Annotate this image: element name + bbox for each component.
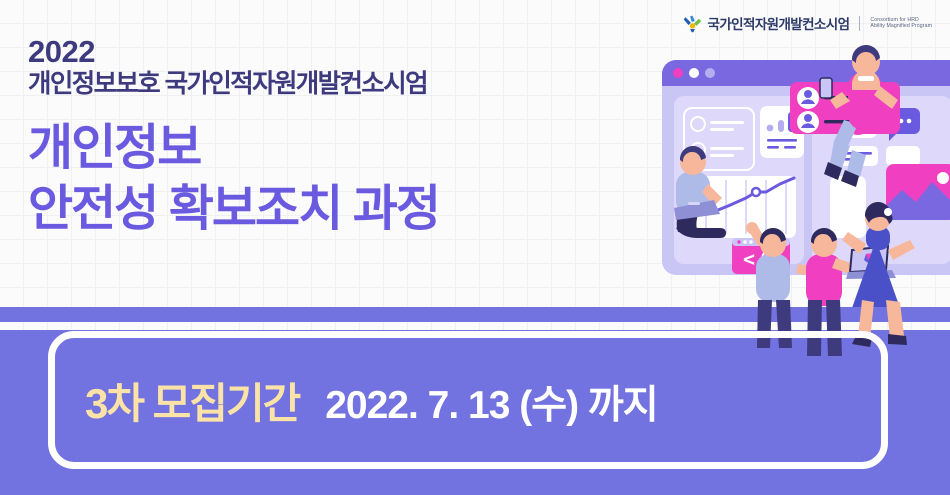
recruitment-deadline: 2022. 7. 13 (수) 까지 bbox=[325, 374, 657, 430]
logo-english-name: Consortium for HRD Ability Magnified Pro… bbox=[870, 17, 932, 30]
recruitment-period-content: 3차 모집기간 2022. 7. 13 (수) 까지 bbox=[55, 370, 658, 431]
logo-korean-name: 국가인적자원개발컨소시엄 bbox=[708, 13, 850, 33]
headline-block: 2022 개인정보보호 국가인적자원개발컨소시엄 개인정보 안전성 확보조치 과… bbox=[28, 36, 439, 240]
program-subtitle: 개인정보보호 국가인적자원개발컨소시엄 bbox=[28, 69, 439, 101]
logo-divider bbox=[859, 16, 860, 31]
consortium-logo: 국가인적자원개발컨소시엄 Consortium for HRD Ability … bbox=[683, 13, 932, 33]
logo-english-line2: Ability Magnified Program bbox=[870, 23, 932, 30]
course-title-line1: 개인정보 bbox=[28, 118, 439, 179]
recruitment-period-box: 3차 모집기간 2022. 7. 13 (수) 까지 bbox=[48, 331, 888, 469]
hrd-dashboard-people-illustration: </> bbox=[630, 0, 950, 330]
recruitment-phase-label: 3차 모집기간 bbox=[85, 370, 299, 431]
course-title-line2: 안전성 확보조치 과정 bbox=[28, 179, 439, 240]
band-top-strip bbox=[0, 307, 950, 322]
year-label: 2022 bbox=[28, 36, 439, 69]
promo-banner: </> bbox=[0, 0, 950, 495]
consortium-logo-mark bbox=[683, 14, 702, 33]
